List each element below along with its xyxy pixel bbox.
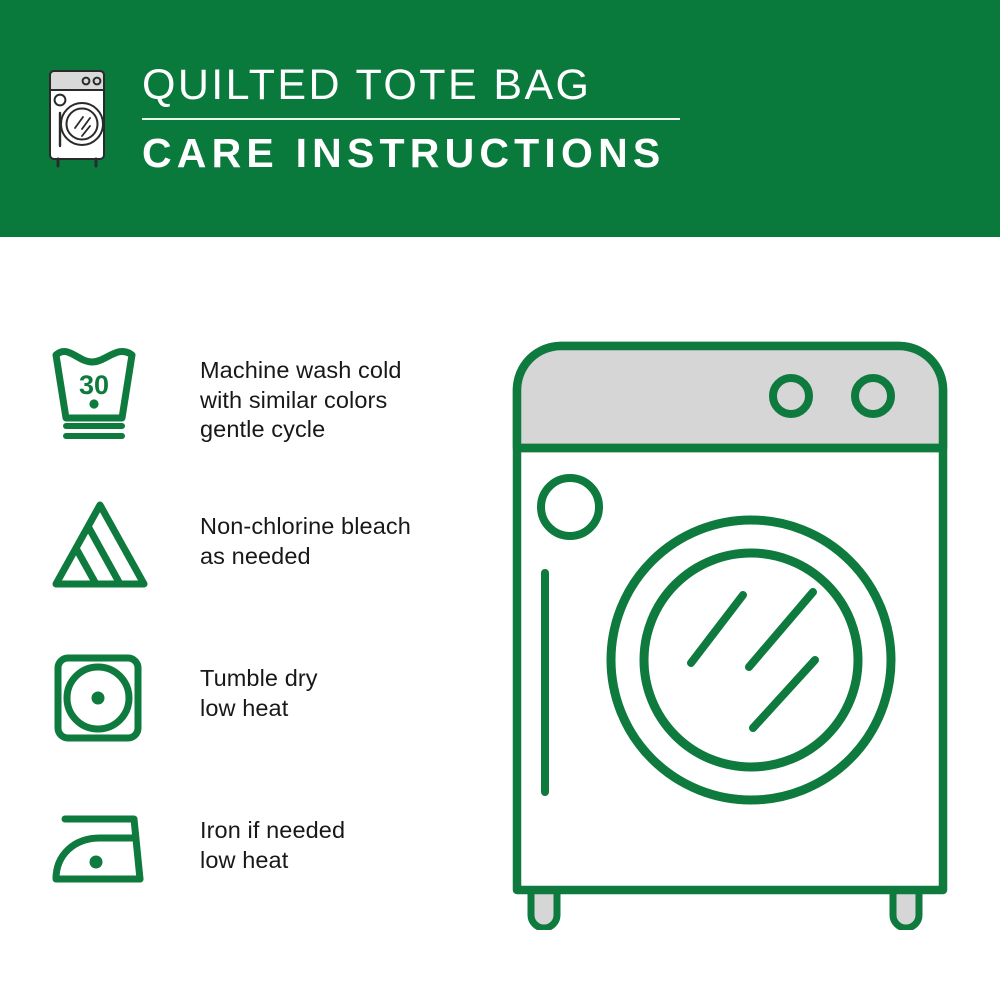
- care-text-line: gentle cycle: [200, 415, 402, 445]
- care-text-line: with similar colors: [200, 386, 402, 416]
- care-text-line: low heat: [200, 694, 318, 724]
- iron-low-heat-icon: [48, 800, 152, 896]
- care-symbol-wrapper: [48, 642, 160, 744]
- care-item-text: Machine wash cold with similar colors ge…: [160, 338, 402, 445]
- control-panel: [517, 346, 943, 448]
- care-item-bleach: Non-chlorine bleach as needed: [48, 490, 468, 642]
- product-title: QUILTED TOTE BAG: [142, 60, 680, 110]
- front-load-washing-machine-illustration: [495, 330, 965, 930]
- care-item-tumble-dry: Tumble dry low heat: [48, 642, 468, 794]
- page-title: CARE INSTRUCTIONS: [142, 130, 680, 176]
- care-item-text: Non-chlorine bleach as needed: [160, 490, 411, 571]
- care-text-line: Iron if needed: [200, 816, 345, 846]
- care-text-line: as needed: [200, 542, 411, 572]
- header-content: QUILTED TOTE BAG CARE INSTRUCTIONS: [44, 60, 680, 176]
- care-item-text: Iron if needed low heat: [160, 794, 345, 875]
- care-text-line: Tumble dry: [200, 664, 318, 694]
- care-symbol-wrapper: [48, 794, 160, 896]
- wash-tub-30-gentle-icon: 30: [48, 344, 152, 440]
- non-chlorine-bleach-triangle-icon: [48, 496, 152, 592]
- care-instruction-list: 30 Machine wash cold with similar colors…: [48, 338, 468, 946]
- care-symbol-wrapper: 30: [48, 338, 160, 440]
- washing-machine-icon: [44, 66, 116, 170]
- care-symbol-wrapper: [48, 490, 160, 592]
- header-divider: [142, 118, 680, 120]
- care-text-line: Machine wash cold: [200, 356, 402, 386]
- care-text-line: Non-chlorine bleach: [200, 512, 411, 542]
- tumble-dry-low-heat-icon: [48, 648, 152, 744]
- care-item-text: Tumble dry low heat: [160, 642, 318, 723]
- header-text-block: QUILTED TOTE BAG CARE INSTRUCTIONS: [142, 60, 680, 176]
- care-item-machine-wash: 30 Machine wash cold with similar colors…: [48, 338, 468, 490]
- leg-right: [893, 890, 919, 928]
- care-item-iron: Iron if needed low heat: [48, 794, 468, 946]
- leg-left: [531, 890, 557, 928]
- wash-temperature-label: 30: [79, 370, 109, 400]
- header-band: QUILTED TOTE BAG CARE INSTRUCTIONS: [0, 0, 1000, 237]
- care-text-line: low heat: [200, 846, 345, 876]
